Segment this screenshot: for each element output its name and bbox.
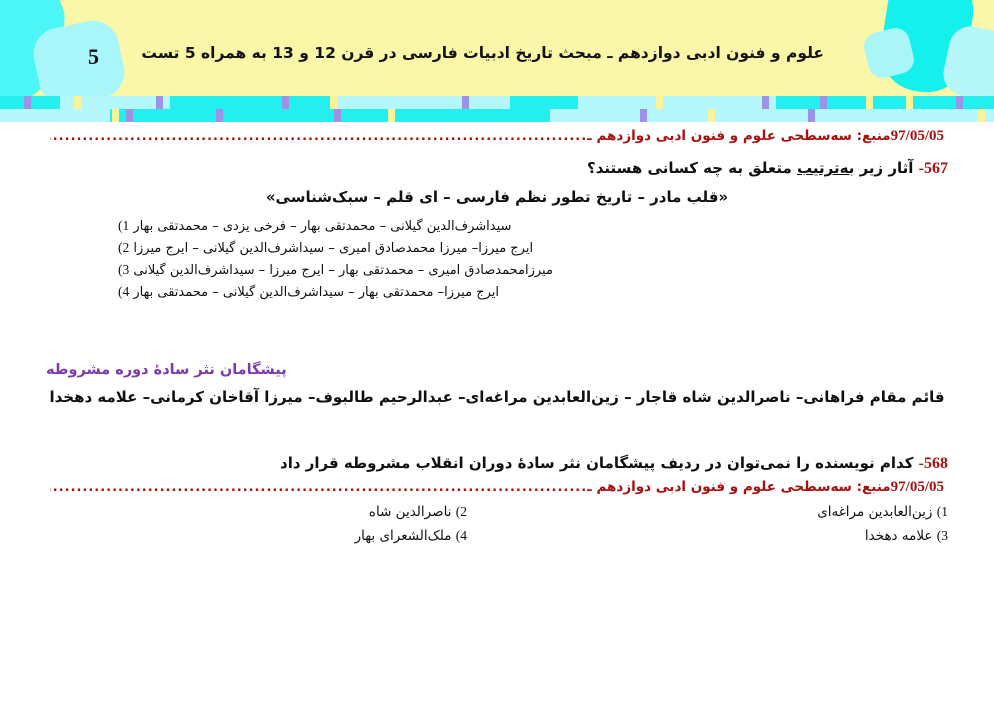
- option-row[interactable]: ایرج میرزا– محمدتقی بهار – سیداشرف‌الدین…: [46, 284, 948, 300]
- question-text-before: آثار زیر: [854, 159, 913, 177]
- band-tick: [866, 96, 873, 109]
- option-row[interactable]: میرزامحمدصادق امیری – محمدتقی بهار – ایر…: [46, 262, 948, 278]
- band-tick: [906, 96, 913, 109]
- option-text: ملک‌الشعرای بهار: [355, 528, 452, 544]
- band-tick: [956, 96, 963, 109]
- question-text-after: متعلق به چه کسانی هستند؟: [587, 159, 797, 177]
- decorative-band: [0, 96, 994, 122]
- option-grid-row: 1) زین‌العابدین مراغه‌ای 2) ناصرالدین شا…: [46, 504, 948, 520]
- option-number: 4): [456, 528, 467, 543]
- source-line-bottom: 97/05/05 منبع: سه‌سطحی علوم و فنون ادبی …: [0, 479, 994, 496]
- question-568-options: 1) زین‌العابدین مراغه‌ای 2) ناصرالدین شا…: [0, 504, 994, 544]
- band-tick: [74, 96, 81, 109]
- option-grid-row: 3) علامه دهخدا 4) ملک‌الشعرای بهار: [46, 528, 948, 544]
- band-tick: [978, 109, 985, 122]
- option-number: 3): [118, 262, 129, 277]
- band-tick: [640, 109, 647, 122]
- page-header: 5 علوم و فنون ادبی دوازدهم ـ مبحث تاریخ …: [0, 0, 994, 96]
- source-date: 97/05/05: [891, 128, 944, 145]
- band-tick: [808, 109, 815, 122]
- source-line-top: 97/05/05 منبع: سه‌سطحی علوم و فنون ادبی …: [0, 128, 994, 145]
- band-tick: [126, 109, 133, 122]
- band-tick: [330, 96, 337, 109]
- band-tick: [388, 109, 395, 122]
- band-row-top: [0, 96, 994, 109]
- band-tick: [462, 96, 469, 109]
- option-text: میرزامحمدصادق امیری – محمدتقی بهار – ایر…: [133, 263, 553, 278]
- band-tick: [762, 96, 769, 109]
- page-number: 5: [88, 44, 99, 70]
- option-cell[interactable]: 1) زین‌العابدین مراغه‌ای: [497, 504, 948, 520]
- question-text: کدام نویسنده را نمی‌توان در ردیف پیشگاما…: [280, 454, 913, 472]
- question-number: 568-: [919, 455, 948, 472]
- decor-shape-left-light: [29, 16, 129, 96]
- option-text: زین‌العابدین مراغه‌ای: [817, 504, 932, 520]
- question-567-options: سیداشرف‌الدین گیلانی – محمدتقی بهار – فر…: [0, 218, 994, 300]
- band-tick: [216, 109, 223, 122]
- option-cell[interactable]: 2) ناصرالدین شاه: [46, 504, 497, 520]
- option-text: سیداشرف‌الدین گیلانی – محمدتقی بهار – فر…: [133, 219, 511, 234]
- decor-shape-right-cyan: [875, 0, 979, 96]
- option-row[interactable]: ایرج میرزا– میرزا محمدصادق امیری – سیداش…: [46, 240, 948, 256]
- decor-shape-right-light: [939, 22, 994, 96]
- page-title: علوم و فنون ادبی دوازدهم ـ مبحث تاریخ اد…: [154, 44, 824, 62]
- source-dot-leader: ........................................…: [50, 129, 587, 144]
- band-segment: [110, 109, 550, 122]
- source-label: منبع: سه‌سطحی علوم و فنون ادبی دوازدهم ـ: [587, 128, 891, 144]
- source-dot-leader: ........................................…: [50, 480, 587, 495]
- band-segment: [330, 96, 510, 109]
- page-content: 97/05/05 منبع: سه‌سطحی علوم و فنون ادبی …: [0, 128, 994, 544]
- band-tick: [112, 109, 119, 122]
- band-tick: [334, 109, 341, 122]
- option-number: 1): [937, 504, 948, 519]
- option-text: علامه دهخدا: [865, 528, 933, 544]
- section-heading: پیشگامان نثر سادۀ دوره مشروطه: [0, 362, 994, 378]
- option-number: 2): [456, 504, 467, 519]
- option-number: 4): [118, 284, 129, 299]
- band-tick: [656, 96, 663, 109]
- band-segment: [578, 96, 776, 109]
- band-tick: [282, 96, 289, 109]
- question-567-quote: «قلب مادر – تاریخ تطور نظم فارسی – ای قل…: [0, 188, 994, 206]
- question-568: 568- کدام نویسنده را نمی‌توان در ردیف پی…: [0, 454, 994, 473]
- decor-shape-left-cyan: [0, 0, 73, 96]
- source-date: 97/05/05: [891, 479, 944, 496]
- band-row-bottom: [0, 109, 994, 122]
- option-text: ناصرالدین شاه: [369, 504, 452, 520]
- decor-shape-right-small: [861, 25, 917, 81]
- option-number: 2): [118, 240, 129, 255]
- section-body-text: قائم مقام فراهانی– ناصرالدین شاه قاجار –…: [0, 388, 994, 406]
- question-number: 567-: [919, 160, 948, 177]
- option-cell[interactable]: 4) ملک‌الشعرای بهار: [46, 528, 497, 544]
- question-emphasis: به‌ترتیب: [797, 159, 854, 177]
- spacer: [0, 406, 994, 440]
- option-text: ایرج میرزا– محمدتقی بهار – سیداشرف‌الدین…: [133, 285, 499, 300]
- question-567: 567- آثار زیر به‌ترتیب متعلق به چه کسانی…: [0, 159, 994, 178]
- band-tick: [708, 109, 715, 122]
- option-row[interactable]: سیداشرف‌الدین گیلانی – محمدتقی بهار – فر…: [46, 218, 948, 234]
- band-tick: [820, 96, 827, 109]
- option-text: ایرج میرزا– میرزا محمدصادق امیری – سیداش…: [133, 241, 533, 256]
- source-label: منبع: سه‌سطحی علوم و فنون ادبی دوازدهم ـ: [587, 479, 891, 495]
- band-tick: [24, 96, 31, 109]
- band-tick: [156, 96, 163, 109]
- option-number: 3): [937, 528, 948, 543]
- option-cell[interactable]: 3) علامه دهخدا: [497, 528, 948, 544]
- option-number: 1): [118, 218, 129, 233]
